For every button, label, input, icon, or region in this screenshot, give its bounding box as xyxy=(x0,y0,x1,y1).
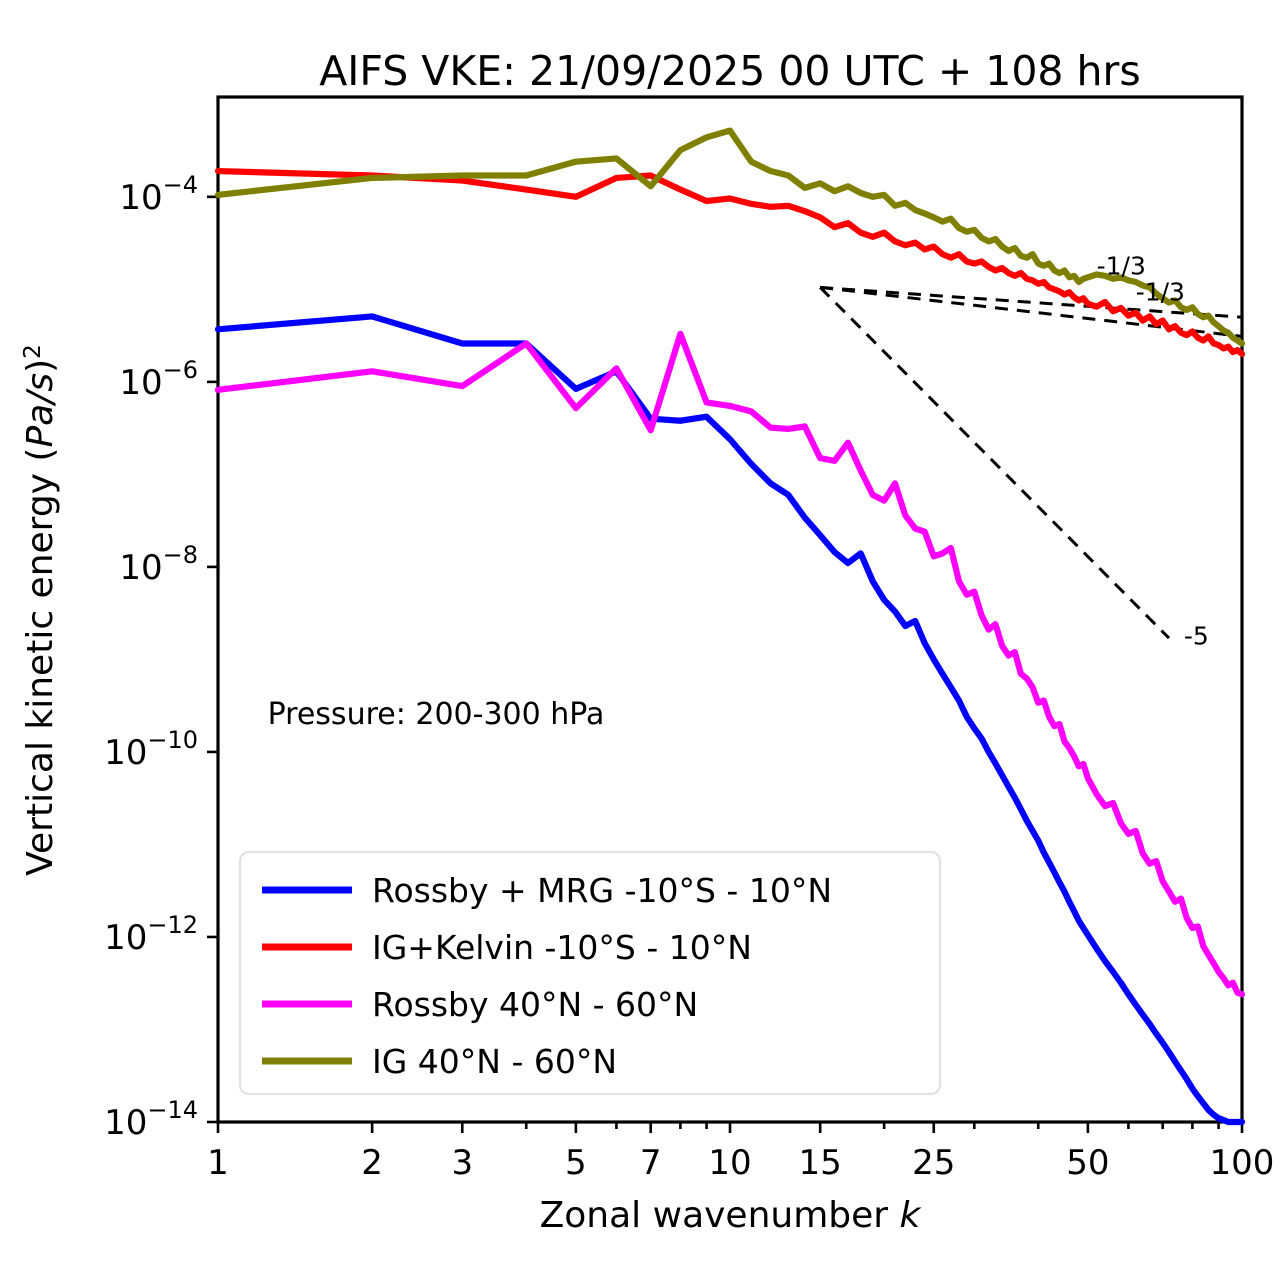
x-tick-label: 10 xyxy=(708,1143,751,1183)
legend-label-rossby-midlat: Rossby 40°N - 60°N xyxy=(372,985,698,1024)
x-tick-label: 2 xyxy=(361,1143,383,1183)
x-tick-label: 7 xyxy=(640,1143,662,1183)
x-tick-label: 3 xyxy=(451,1143,473,1183)
y-axis-label: Vertical kinetic energy (Pa/s)2 xyxy=(20,344,61,876)
legend-label-ig-kelvin-tropics: IG+Kelvin -10°S - 10°N xyxy=(372,928,752,967)
slope-label-upper: -1/3 xyxy=(1097,251,1146,280)
chart-canvas: AIFS VKE: 21/09/2025 00 UTC + 108 hrs 12… xyxy=(0,0,1280,1288)
x-tick-label: 5 xyxy=(565,1143,587,1183)
pressure-annotation: Pressure: 200-300 hPa xyxy=(268,697,605,732)
x-tick-label: 50 xyxy=(1066,1143,1109,1183)
slope-label-lower: -1/3 xyxy=(1136,277,1185,306)
x-tick-label: 15 xyxy=(799,1143,842,1183)
x-tick-label: 100 xyxy=(1210,1143,1275,1183)
x-axis-label: Zonal wavenumber k xyxy=(540,1195,923,1236)
x-tick-label: 1 xyxy=(207,1143,229,1183)
legend-label-rossby-mrg-tropics: Rossby + MRG -10°S - 10°N xyxy=(372,871,832,910)
chart-title: AIFS VKE: 21/09/2025 00 UTC + 108 hrs xyxy=(319,47,1140,95)
chart-figure: AIFS VKE: 21/09/2025 00 UTC + 108 hrs 12… xyxy=(0,0,1280,1288)
slope-label-minus5: -5 xyxy=(1184,621,1209,650)
chart-legend[interactable]: Rossby + MRG -10°S - 10°NIG+Kelvin -10°S… xyxy=(240,852,940,1094)
legend-label-ig-midlat: IG 40°N - 60°N xyxy=(372,1042,617,1081)
x-tick-label: 25 xyxy=(912,1143,955,1183)
